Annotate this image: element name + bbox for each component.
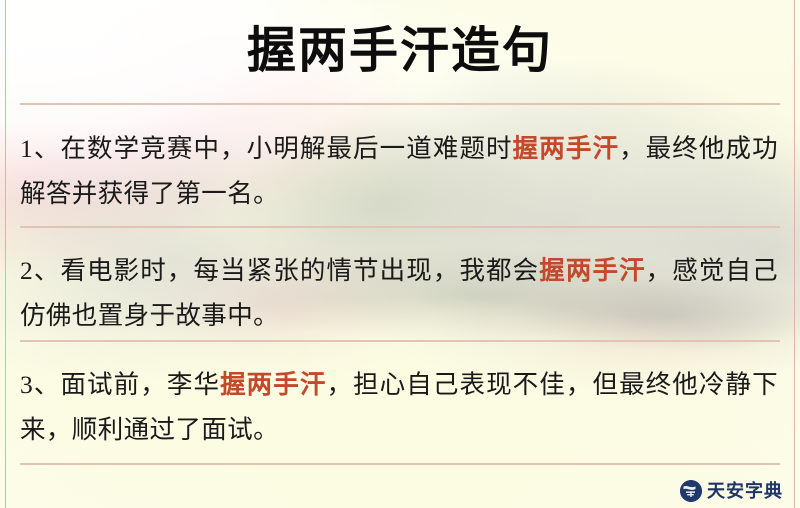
sentence-2-index: 2、 bbox=[20, 256, 60, 285]
sentence-1-before: 在数学竞赛中，小明解最后一道难题时 bbox=[60, 134, 512, 163]
divider-rule-1 bbox=[20, 226, 780, 228]
sentence-1-keyword: 握两手汗 bbox=[513, 134, 619, 163]
sentence-1-index: 1、 bbox=[20, 134, 60, 163]
divider-rule-top bbox=[20, 103, 780, 105]
document-page: 握两手汗造句 1、在数学竞赛中，小明解最后一道难题时握两手汗，最终他成功解答并获… bbox=[0, 0, 800, 508]
divider-rule-2 bbox=[20, 340, 780, 342]
brand-name: 天安字典 bbox=[707, 480, 783, 502]
divider-rule-bottom bbox=[20, 463, 780, 465]
page-title: 握两手汗造句 bbox=[0, 22, 800, 80]
sentence-2-keyword: 握两手汗 bbox=[539, 256, 645, 285]
sentence-3-index: 3、 bbox=[20, 370, 60, 399]
seal-logo-icon bbox=[680, 480, 702, 502]
brand-watermark: 天安字典 bbox=[680, 480, 783, 502]
sentence-3-keyword: 握两手汗 bbox=[220, 370, 326, 399]
example-sentence-2: 2、看电影时，每当紧张的情节出现，我都会握两手汗，感觉自己仿佛也置身于故事中。 bbox=[20, 248, 778, 338]
sentence-3-before: 面试前，李华 bbox=[60, 370, 220, 399]
example-sentence-3: 3、面试前，李华握两手汗，担心自己表现不佳，但最终他冷静下来，顺利通过了面试。 bbox=[20, 362, 778, 452]
sentence-2-before: 看电影时，每当紧张的情节出现，我都会 bbox=[60, 256, 539, 285]
example-sentence-1: 1、在数学竞赛中，小明解最后一道难题时握两手汗，最终他成功解答并获得了第一名。 bbox=[20, 126, 778, 216]
